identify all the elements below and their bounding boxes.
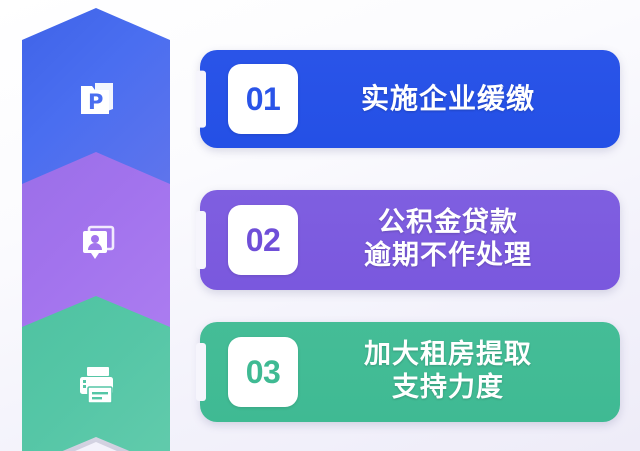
row-notch-3 bbox=[196, 343, 206, 401]
row-notch-1 bbox=[196, 71, 206, 128]
step-label-1: 实施企业缓缴 bbox=[298, 82, 620, 116]
row-notch-2 bbox=[196, 211, 206, 269]
svg-text:P: P bbox=[88, 90, 103, 114]
step-number-badge-3: 03 bbox=[228, 337, 298, 407]
step-number-badge-1: 01 bbox=[228, 64, 298, 134]
person-card-icon bbox=[69, 217, 123, 271]
step-row-2[interactable]: 02 公积金贷款 逾期不作处理 bbox=[200, 190, 620, 290]
printer-icon bbox=[69, 358, 123, 412]
step-label-3: 加大租房提取 支持力度 bbox=[298, 339, 620, 405]
folder-p-icon: P bbox=[69, 73, 123, 127]
steps-list: 01 实施企业缓缴 02 公积金贷款 逾期不作处理 03 加大租房提取 支持力度 bbox=[188, 0, 640, 451]
step-row-1[interactable]: 01 实施企业缓缴 bbox=[200, 50, 620, 148]
infographic-poster: P bbox=[0, 0, 640, 451]
step-number-badge-2: 02 bbox=[228, 205, 298, 275]
step-row-3[interactable]: 03 加大租房提取 支持力度 bbox=[200, 322, 620, 422]
ribbon-step-3 bbox=[22, 296, 170, 451]
step-label-2: 公积金贷款 逾期不作处理 bbox=[298, 207, 620, 273]
ribbon-column: P bbox=[22, 0, 170, 451]
